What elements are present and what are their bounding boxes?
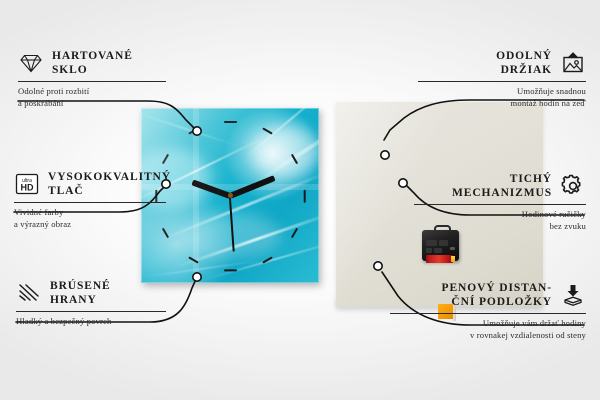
callout-title: VYSOKOKVALITNÝTLAČ [48,170,171,198]
callout-divider [14,202,166,203]
callout-title: PENOVÝ DISTAN-ČNÍ PODLOŽKY [442,281,552,309]
mechanism-detail [426,240,437,246]
callout-divider [414,204,586,205]
callout-description: Hodinové ručičkybez zvuku [414,209,586,232]
gear-icon [560,174,586,198]
callout-description: Odolné proti rozbitía poškrábání [18,86,166,109]
callout-title: TICHÝMECHANIZMUS [452,172,552,200]
mechanism-detail [439,240,448,246]
infographic-canvas: HARTOVANÉSKLO Odolné proti rozbitía pošk… [0,0,600,400]
callout-ground-edges[interactable]: BRÚSENÉHRANY Hladký a bezpečný povrch [16,279,166,328]
svg-text:HD: HD [21,183,34,193]
callout-title: BRÚSENÉHRANY [50,279,111,307]
callout-header: BRÚSENÉHRANY [16,279,166,307]
callout-foam-spacers[interactable]: PENOVÝ DISTAN-ČNÍ PODLOŽKY Umožňuje vám … [390,281,586,341]
callout-header: PENOVÝ DISTAN-ČNÍ PODLOŽKY [390,281,586,309]
callout-hardened-glass[interactable]: HARTOVANÉSKLO Odolné proti rozbitía pošk… [18,49,166,109]
diamond-icon [18,51,44,75]
callout-description: Vividné farbya výrazný obraz [14,207,166,230]
foam-spacer-icon [560,283,586,307]
callout-divider [18,81,166,82]
aa-battery [426,255,453,263]
mechanism-detail [426,248,432,253]
mechanism-detail [450,247,455,250]
picture-hanger-icon [560,51,586,75]
mechanism-body [422,230,459,261]
callout-header: HARTOVANÉSKLO [18,49,166,77]
callout-quiet-mechanism[interactable]: TICHÝMECHANIZMUS Hodinové ručičkybez zvu… [414,172,586,232]
callout-header: ODOLNÝDRŽIAK [418,49,586,77]
callout-description: Hladký a bezpečný povrch [16,316,166,328]
ground-edges-icon [16,281,42,305]
callout-divider [390,313,586,314]
callout-description: Umožňuje vám držať hodinyv rovnakej vzdi… [390,318,586,341]
callout-divider [16,311,166,312]
callout-divider [418,81,586,82]
callout-hd-print[interactable]: ultra HD VYSOKOKVALITNÝTLAČ Vividné farb… [14,170,166,230]
callout-header: ultra HD VYSOKOKVALITNÝTLAČ [14,170,166,198]
callout-header: TICHÝMECHANIZMUS [414,172,586,200]
mechanism-detail [434,248,442,253]
callout-title: HARTOVANÉSKLO [52,49,133,77]
callout-durable-holder[interactable]: ODOLNÝDRŽIAK Umožňuje snadnoumontáž hodi… [418,49,586,109]
ultra-hd-badge-icon: ultra HD [14,172,40,196]
callout-description: Umožňuje snadnoumontáž hodin na zeď [418,86,586,109]
callout-title: ODOLNÝDRŽIAK [496,49,552,77]
